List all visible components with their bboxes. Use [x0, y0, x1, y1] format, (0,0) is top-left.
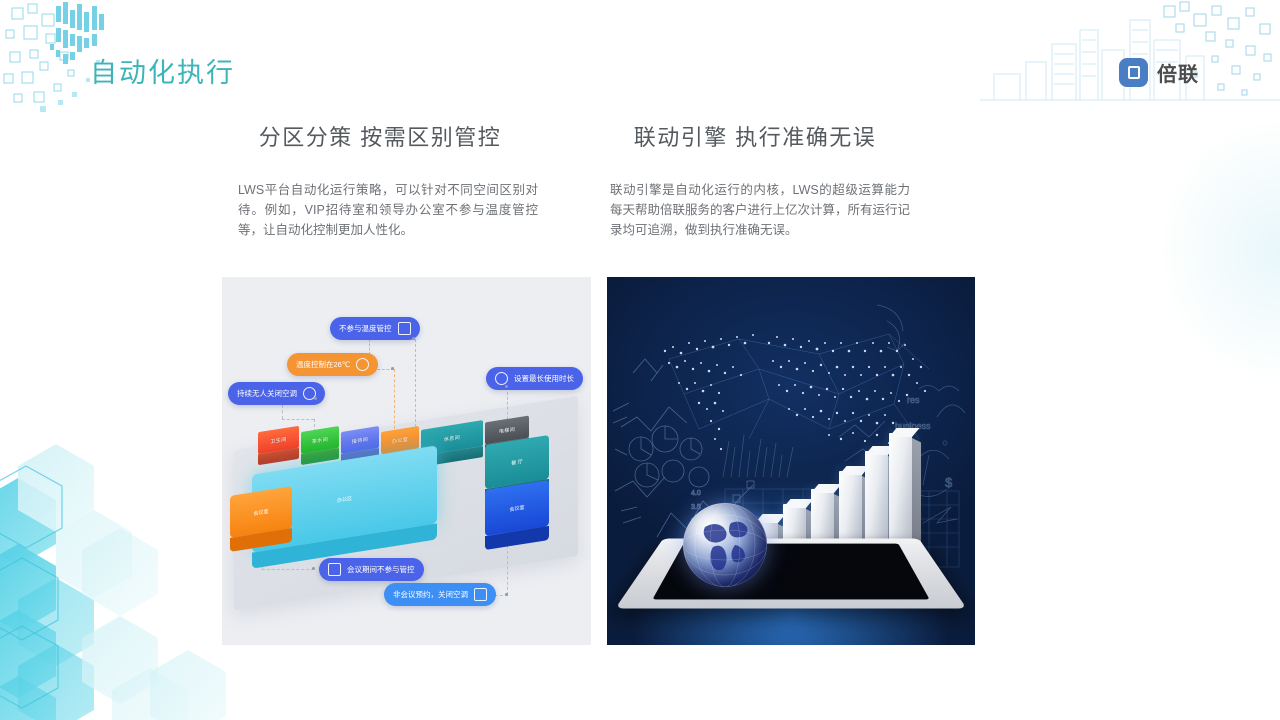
callout-label: 非会议预约，关闭空调 [393, 589, 468, 600]
connector-dot [312, 567, 315, 570]
connector-dot [314, 397, 317, 400]
connector-dot [505, 385, 508, 388]
thermometer-icon [356, 358, 369, 371]
callout-label: 温度控制在26℃ [296, 359, 350, 370]
connector-line [415, 339, 416, 437]
column-left-body: LWS平台自动化运行策略，可以针对不同空间区别对待。例如，VIP招待室和领导办公… [238, 180, 538, 240]
clock-icon [495, 372, 508, 385]
tablet-device [615, 539, 967, 609]
city-skyline-decor-top-right [980, 0, 1280, 110]
page-title: 自动化执行 [90, 51, 235, 90]
calendar-icon [474, 588, 487, 601]
callout-label: 设置最长使用时长 [514, 373, 574, 384]
column-right-body: 联动引擎是自动化运行的内核，LWS的超级运算能力每天帮助倍联服务的客户进行上亿次… [610, 180, 910, 240]
column-right: 联动引擎 执行准确无误 联动引擎是自动化运行的内核，LWS的超级运算能力每天帮助… [565, 120, 945, 240]
callout-label: 不参与温度管控 [339, 323, 392, 334]
callout-unoccupied-off: 持续无人关闭空调 [228, 382, 325, 405]
connector-dot [412, 337, 415, 340]
room-block: 卫生间 [258, 426, 299, 454]
hexagon-decor-bottom-left [0, 390, 230, 720]
svg-text:$: $ [945, 475, 953, 490]
connector-line [262, 569, 314, 570]
floorplan-panel: 卫生间 茶水间 接待间 办公室 休息间 电梯间 办公区 会议室 餐 厅 会议室 … [222, 277, 591, 645]
connector-line [282, 419, 314, 420]
right-edge-gradient-wash [1160, 120, 1280, 380]
zone-block: 会议室 [485, 480, 549, 536]
callout-max-duration: 设置最长使用时长 [486, 367, 583, 390]
callout-meeting-exempt: 会议期间不参与管控 [319, 558, 424, 581]
analytics-visual-panel: 4.0 3.5 3.0 2.5 2.0 1.5 1.0 res business… [607, 277, 975, 645]
connector-line [394, 369, 395, 439]
meeting-room-icon [328, 563, 341, 576]
room-block: 接待间 [341, 426, 379, 454]
rounded-square-logo-icon [1119, 58, 1148, 87]
globe-3d [683, 503, 767, 587]
document-list-icon [398, 322, 411, 335]
connector-dot [505, 593, 508, 596]
column-left-heading: 分区分策 按需区别管控 [190, 120, 570, 152]
callout-label: 持续无人关闭空调 [237, 388, 297, 399]
column-right-heading: 联动引擎 执行准确无误 [565, 120, 945, 152]
zone-block: 会议室 [230, 486, 292, 538]
svg-text:res: res [907, 395, 920, 405]
callout-no-booking-off: 非会议预约，关闭空调 [384, 583, 496, 606]
analytics-scene: 4.0 3.5 3.0 2.5 2.0 1.5 1.0 res business… [607, 277, 975, 645]
connector-dot [391, 367, 394, 370]
callout-no-temp-control: 不参与温度管控 [330, 317, 420, 340]
room-block: 茶水间 [301, 426, 339, 454]
brand-name: 倍联 [1157, 58, 1199, 87]
isometric-floorplan: 卫生间 茶水间 接待间 办公室 休息间 电梯间 办公区 会议室 餐 厅 会议室 … [222, 277, 591, 645]
svg-text:4.0: 4.0 [691, 490, 701, 497]
callout-label: 会议期间不参与管控 [347, 564, 415, 575]
brand-logo: 倍联 [1119, 58, 1199, 87]
callout-temp-26: 温度控制在26℃ [287, 353, 378, 376]
column-left: 分区分策 按需区别管控 LWS平台自动化运行策略，可以针对不同空间区别对待。例如… [190, 120, 570, 240]
